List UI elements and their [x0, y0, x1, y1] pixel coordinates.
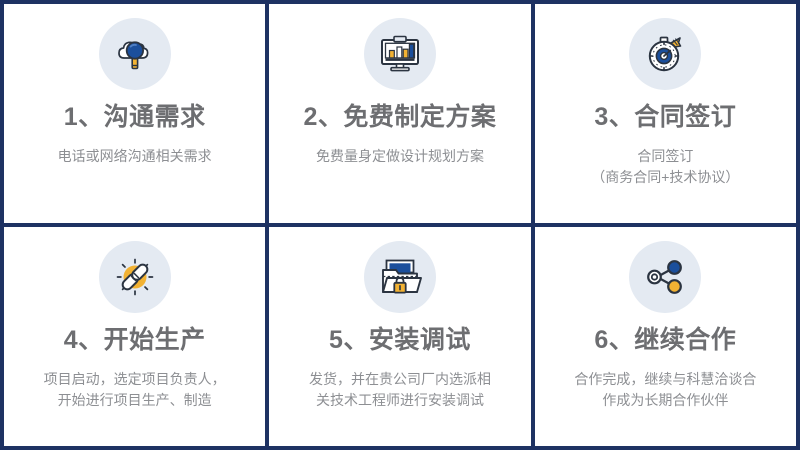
description-line: 合同签订 [591, 146, 739, 168]
step-title: 6、继续合作 [594, 327, 736, 355]
step-card-5: 5、安装调试 发货，并在贵公司厂内选派相 关技术工程师进行安装调试 [269, 227, 530, 446]
description-line: 项目启动，选定项目负责人， [44, 369, 226, 391]
step-card-2: 2、免费制定方案 免费量身定做设计规划方案 [269, 4, 530, 223]
step-title: 3、合同签订 [594, 104, 736, 132]
step-description: 合作完成，继续与科慧洽谈合 作成为长期合作伙伴 [564, 369, 766, 412]
step-card-4: 4、开始生产 项目启动，选定项目负责人， 开始进行项目生产、制造 [4, 227, 265, 446]
step-description: 电话或网络沟通相关需求 [48, 146, 222, 168]
process-steps-grid: 1、沟通需求 电话或网络沟通相关需求 2、免费制定方案 免费量身定做设计规划方案 [0, 0, 800, 450]
step-description: 项目启动，选定项目负责人， 开始进行项目生产、制造 [34, 369, 236, 412]
step-card-3: 3、合同签订 合同签订 （商务合同+技术协议） [535, 4, 796, 223]
step-card-6: 6、继续合作 合作完成，继续与科慧洽谈合 作成为长期合作伙伴 [535, 227, 796, 446]
description-line: 发货，并在贵公司厂内选派相 [309, 369, 491, 391]
description-line: 电话或网络沟通相关需求 [58, 146, 212, 168]
step-description: 免费量身定做设计规划方案 [306, 146, 494, 168]
step-title: 5、安装调试 [329, 327, 471, 355]
monitor-bar-chart-icon [364, 18, 436, 90]
description-line: 免费量身定做设计规划方案 [316, 146, 484, 168]
share-nodes-icon [629, 241, 701, 313]
folder-lock-icon [364, 241, 436, 313]
step-title: 1、沟通需求 [64, 104, 206, 132]
description-line: 关技术工程师进行安装调试 [309, 390, 491, 412]
step-card-1: 1、沟通需求 电话或网络沟通相关需求 [4, 4, 265, 223]
description-line: 合作完成，继续与科慧洽谈合 [574, 369, 756, 391]
step-description: 合同签订 （商务合同+技术协议） [581, 146, 749, 189]
description-line: 开始进行项目生产、制造 [44, 390, 226, 412]
description-line: （商务合同+技术协议） [591, 167, 739, 189]
chain-link-icon [99, 241, 171, 313]
step-title: 4、开始生产 [64, 327, 206, 355]
step-title: 2、免费制定方案 [304, 104, 497, 132]
cloud-search-icon [99, 18, 171, 90]
stopwatch-target-icon [629, 18, 701, 90]
description-line: 作成为长期合作伙伴 [574, 390, 756, 412]
step-description: 发货，并在贵公司厂内选派相 关技术工程师进行安装调试 [299, 369, 501, 412]
